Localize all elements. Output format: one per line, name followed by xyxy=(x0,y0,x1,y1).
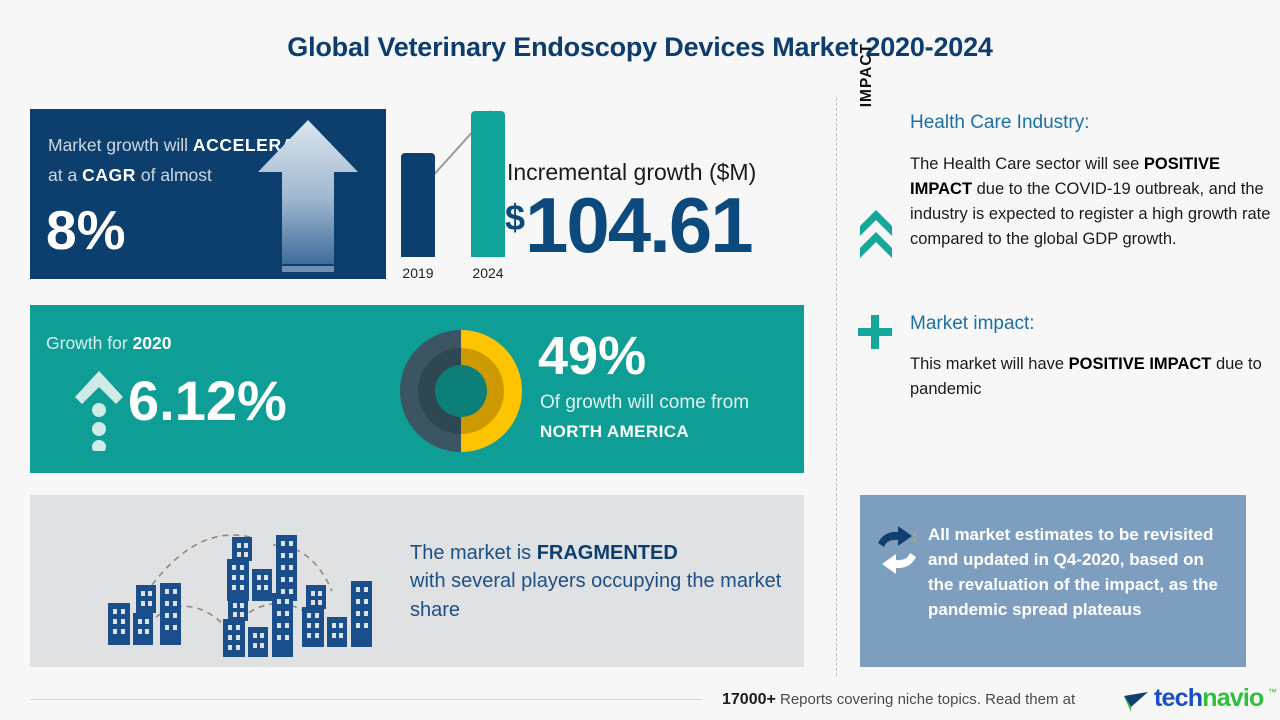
double-chevron-up-icon xyxy=(858,208,894,267)
growth-2020-value: 6.12% xyxy=(128,373,287,429)
technavio-paper-plane-icon xyxy=(1122,690,1150,714)
cagr-value: 8% xyxy=(46,203,126,258)
cagr-word: CAGR xyxy=(82,165,136,185)
logo-navio: navio xyxy=(1202,684,1263,712)
bar-2019 xyxy=(401,153,435,257)
market-impact-body: This market will have POSITIVE IMPACT du… xyxy=(910,352,1270,402)
cagr-line-2: at a CAGR of almost xyxy=(48,165,212,186)
footer-divider xyxy=(30,699,702,700)
fragmented-market-panel: The market is FRAGMENTEDwith several pla… xyxy=(30,495,804,667)
impact-vertical-label: IMPACT xyxy=(858,43,878,133)
bar-label-2024: 2024 xyxy=(464,265,512,281)
technavio-wordmark: technavio xyxy=(1154,686,1264,711)
infographic-page: Global Veterinary Endoscopy Devices Mark… xyxy=(0,0,1280,720)
north-america-sub-line2: NORTH AMERICA xyxy=(540,422,689,442)
plus-icon xyxy=(855,312,895,357)
footer-text: 17000+ Reports covering niche topics. Re… xyxy=(722,691,1075,709)
logo-tech: tech xyxy=(1154,684,1202,712)
cagr-line2-pre: at a xyxy=(48,165,82,185)
revision-note-box: All market estimates to be revisited and… xyxy=(860,495,1246,667)
up-chevron-dots-icon xyxy=(72,367,126,456)
fragmented-text: The market is FRAGMENTEDwith several pla… xyxy=(410,539,790,624)
bar-label-2019: 2019 xyxy=(394,265,442,281)
donut-chart-icon xyxy=(398,328,524,459)
hc-body-1: The Health Care sector will see xyxy=(910,155,1144,173)
bar-2024 xyxy=(471,111,505,257)
north-america-percent: 49% xyxy=(538,329,646,383)
footer-report-count: 17000+ xyxy=(722,691,776,708)
cagr-line2-post: of almost xyxy=(136,165,212,185)
currency-symbol: $ xyxy=(505,197,525,238)
growth-year: 2020 xyxy=(133,333,172,353)
cagr-panel: Market growth will ACCELERATE at a CAGR … xyxy=(30,109,386,279)
market-impact-heading: Market impact: xyxy=(910,313,1035,335)
growth-2020-panel: Growth for 2020 6.12% 49% Of growth will… xyxy=(30,305,804,473)
mi-body-1: This market will have xyxy=(910,355,1069,373)
health-care-heading: Health Care Industry: xyxy=(910,112,1090,134)
incremental-growth-value: $104.61 xyxy=(505,186,752,264)
fragmented-text-pre: The market is xyxy=(410,542,537,564)
cagr-line1-plain: Market growth will xyxy=(48,135,193,155)
growth-for-text: Growth for xyxy=(46,333,133,353)
page-title: Global Veterinary Endoscopy Devices Mark… xyxy=(0,32,1280,63)
mi-positive-impact: POSITIVE IMPACT xyxy=(1069,355,1212,373)
city-buildings-network-icon xyxy=(80,507,380,657)
incremental-number: 104.61 xyxy=(525,181,752,269)
refresh-cycle-icon xyxy=(870,523,926,584)
footer-caption: Reports covering niche topics. Read them… xyxy=(776,691,1075,708)
health-care-body: The Health Care sector will see POSITIVE… xyxy=(910,152,1272,252)
logo-trademark: ™ xyxy=(1268,687,1277,697)
north-america-sub-line1: Of growth will come from xyxy=(540,392,749,414)
revision-note-text: All market estimates to be revisited and… xyxy=(928,523,1234,623)
fragmented-word: FRAGMENTED xyxy=(537,542,678,564)
up-arrow-icon xyxy=(254,114,362,279)
fragmented-text-post: with several players occupying the marke… xyxy=(410,570,781,620)
vertical-divider xyxy=(836,98,837,676)
growth-2020-heading: Growth for 2020 xyxy=(46,333,172,354)
bar-chart: 2019 2024 xyxy=(393,100,513,285)
